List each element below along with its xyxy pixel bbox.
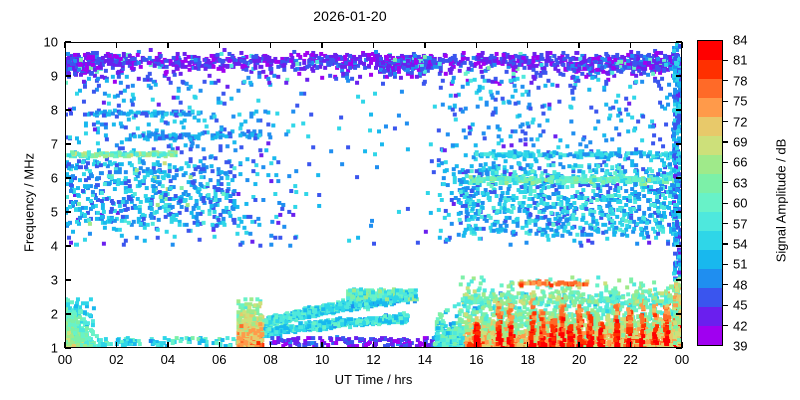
x-tick-label: 06	[212, 352, 226, 367]
colorbar-tick-label: 45	[733, 298, 747, 313]
x-axis-title: UT Time / hrs	[65, 372, 682, 387]
y-tick-label: 9	[51, 69, 58, 84]
x-tick-label: 04	[161, 352, 175, 367]
x-tick-label: 00	[675, 352, 689, 367]
colorbar-band	[698, 60, 722, 79]
x-tick-label: 08	[263, 352, 277, 367]
colorbar-band	[698, 98, 722, 117]
x-tick-label: 16	[469, 352, 483, 367]
colorbar-band	[698, 174, 722, 193]
colorbar-band	[698, 326, 722, 345]
colorbar-band	[698, 269, 722, 288]
x-tick-label: 14	[418, 352, 432, 367]
colorbar-group	[697, 40, 723, 346]
x-tick-label: 02	[109, 352, 123, 367]
colorbar-tick-label: 51	[733, 257, 747, 272]
colorbar-band	[698, 193, 722, 212]
y-tick-label: 2	[51, 307, 58, 322]
colorbar-tick-label: 63	[733, 175, 747, 190]
colorbar-band	[698, 250, 722, 269]
colorbar-tick-label: 69	[733, 135, 747, 150]
y-tick-label: 4	[51, 239, 58, 254]
colorbar-tick-label: 81	[733, 53, 747, 68]
ionogram-chart: 2026-01-20 00020406081012141618202200 12…	[0, 0, 800, 400]
x-tick-label: 22	[623, 352, 637, 367]
colorbar-band	[698, 136, 722, 155]
colorbar-title: Signal Amplitude / dB	[774, 106, 789, 296]
colorbar-tick-label: 84	[733, 33, 747, 48]
y-tick-label: 1	[51, 341, 58, 356]
colorbar-tick-label: 60	[733, 196, 747, 211]
chart-title: 2026-01-20	[0, 8, 700, 24]
colorbar-band	[698, 307, 722, 326]
y-tick-label: 7	[51, 137, 58, 152]
y-tick-label: 8	[51, 103, 58, 118]
scatter-plot-canvas	[66, 43, 681, 347]
colorbar-tick-label: 66	[733, 155, 747, 170]
y-axis-title: Frequency / MHz	[22, 123, 37, 283]
y-tick-label: 6	[51, 171, 58, 186]
colorbar-tick-label: 78	[733, 73, 747, 88]
colorbar-band	[698, 288, 722, 307]
y-tick-label: 3	[51, 273, 58, 288]
colorbar-tick-label: 48	[733, 277, 747, 292]
y-tick-label: 5	[51, 205, 58, 220]
colorbar-band	[698, 212, 722, 231]
x-tick-label: 18	[521, 352, 535, 367]
x-tick-label: 10	[315, 352, 329, 367]
x-tick-label: 20	[572, 352, 586, 367]
colorbar-band	[698, 155, 722, 174]
colorbar-tick-label: 42	[733, 318, 747, 333]
plot-area	[65, 42, 682, 348]
colorbar-tick-label: 39	[733, 339, 747, 354]
colorbar-band	[698, 231, 722, 250]
y-tick-label: 10	[44, 35, 58, 50]
x-tick-label: 00	[58, 352, 72, 367]
colorbar-tick-label: 57	[733, 216, 747, 231]
colorbar-tick-label: 72	[733, 114, 747, 129]
x-tick-label: 12	[366, 352, 380, 367]
colorbar-tick-label: 75	[733, 94, 747, 109]
colorbar	[697, 40, 723, 346]
colorbar-tick-label: 54	[733, 237, 747, 252]
colorbar-band	[698, 117, 722, 136]
colorbar-band	[698, 41, 722, 60]
colorbar-band	[698, 79, 722, 98]
